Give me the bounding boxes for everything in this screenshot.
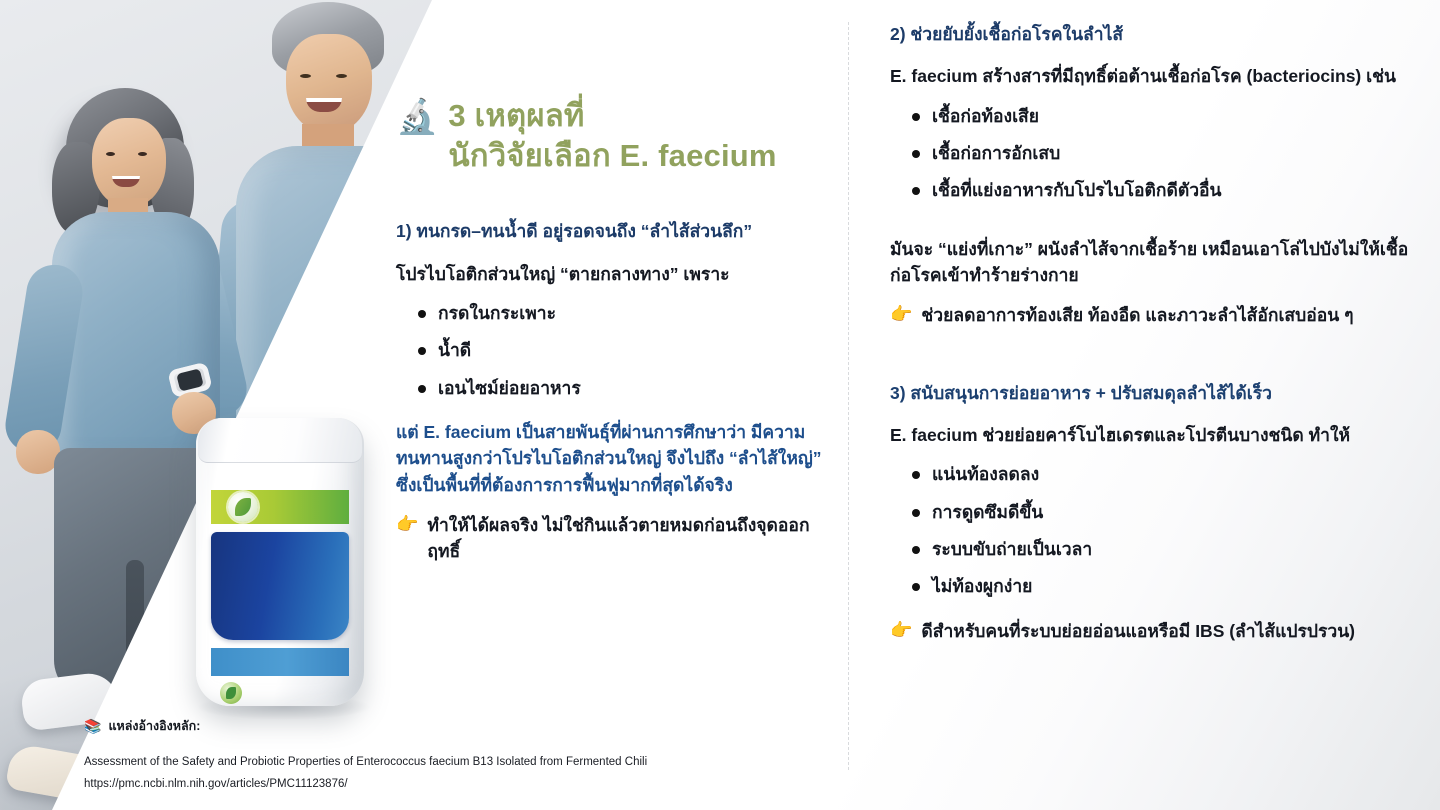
spacer [890, 343, 1410, 381]
list-item: การดูดซึมดีขึ้น [912, 500, 1410, 525]
list-item: เชื้อก่อท้องเสีย [912, 104, 1410, 129]
section-3-bullets: แน่นท้องลดลง การดูดซึมดีขึ้น ระบบขับถ่าย… [890, 462, 1410, 600]
section-1-takeaway: 👉 ทำให้ได้ผลจริง ไม่ใช่กินแล้วตายหมดก่อน… [396, 512, 836, 565]
product-jar [196, 418, 364, 706]
infographic-canvas: 🔬 3 เหตุผลที่ นักวิจัยเลือก E. faecium 1… [0, 0, 1440, 810]
left-content-column: 🔬 3 เหตุผลที่ นักวิจัยเลือก E. faecium 1… [396, 96, 836, 578]
list-item: น้ำดี [418, 338, 836, 363]
section-2-heading: 2) ช่วยยับยั้งเชื้อก่อโรคในลำไส้ [890, 22, 1410, 47]
section-1-highlight: แต่ E. faecium เป็นสายพันธุ์ที่ผ่านการศึ… [396, 419, 836, 498]
list-item: ระบบขับถ่ายเป็นเวลา [912, 537, 1410, 562]
spacer [890, 222, 1410, 236]
list-item: แน่นท้องลดลง [912, 462, 1410, 487]
pointing-hand-icon: 👉 [890, 618, 912, 642]
section-3-intro: E. faecium ช่วยย่อยคาร์โบไฮเดรตและโปรตีน… [890, 422, 1410, 448]
title-line-1: 3 เหตุผลที่ [448, 96, 776, 136]
list-item: เอนไซม์ย่อยอาหาร [418, 376, 836, 401]
list-item: ไม่ท้องผูกง่าย [912, 574, 1410, 599]
citation-reference: Assessment of the Safety and Probiotic P… [84, 752, 844, 774]
section-2-bullets: เชื้อก่อท้องเสีย เชื้อก่อการอักเสบ เชื้อ… [890, 104, 1410, 204]
citation-label: แหล่งอ้างอิงหลัก: [108, 716, 200, 736]
pointing-hand-icon: 👉 [396, 512, 418, 536]
jar-blue-label [211, 532, 349, 640]
woman-face [92, 118, 166, 208]
section-2-intro: E. faecium สร้างสารที่มีฤทธิ์ต่อต้านเชื้… [890, 63, 1410, 89]
citation-url[interactable]: https://pmc.ncbi.nlm.nih.gov/articles/PM… [84, 774, 844, 796]
woman-leg-gap [126, 560, 144, 710]
section-1-takeaway-text: ทำให้ได้ผลจริง ไม่ใช่กินแล้วตายหมดก่อนถึ… [427, 512, 836, 565]
jar-blue-strip [211, 648, 349, 676]
list-item: เชื้อก่อการอักเสบ [912, 141, 1410, 166]
microscope-icon: 🔬 [396, 100, 438, 134]
page-title: 🔬 3 เหตุผลที่ นักวิจัยเลือก E. faecium [396, 96, 836, 175]
woman-eye-right [138, 152, 147, 156]
man-face [286, 34, 372, 134]
section-1-heading: 1) ทนกรด–ทนน้ำดี อยู่รอดจนถึง “ลำไส้ส่วน… [396, 219, 836, 244]
title-line-2: นักวิจัยเลือก E. faecium [448, 136, 776, 176]
man-eye-left [300, 74, 311, 78]
man-eye-right [336, 74, 347, 78]
jar-lid [198, 418, 362, 463]
eco-badge-icon [220, 682, 242, 704]
pointing-hand-icon: 👉 [890, 302, 912, 326]
list-item: กรดในกระเพาะ [418, 301, 836, 326]
section-3-takeaway: 👉 ดีสำหรับคนที่ระบบย่อยอ่อนแอหรือมี IBS … [890, 618, 1410, 644]
list-item: เชื้อที่แย่งอาหารกับโปรไบโอติกดีตัวอื่น [912, 178, 1410, 203]
citation-block: 📚 แหล่งอ้างอิงหลัก: Assessment of the Sa… [84, 716, 844, 796]
woman-eye-left [106, 152, 115, 156]
leaf-logo-icon [228, 492, 258, 522]
title-text: 3 เหตุผลที่ นักวิจัยเลือก E. faecium [448, 96, 776, 175]
column-divider [848, 22, 849, 770]
section-1-intro: โปรไบโอติกส่วนใหญ่ “ตายกลางทาง” เพราะ [396, 261, 836, 287]
section-2-takeaway: 👉 ช่วยลดอาการท้องเสีย ท้องอืด และภาวะลำไ… [890, 302, 1410, 328]
citation-header: 📚 แหล่งอ้างอิงหลัก: [84, 716, 844, 736]
section-3-heading: 3) สนับสนุนการย่อยอาหาร + ปรับสมดุลลำไส้… [890, 381, 1410, 406]
right-content-column: 2) ช่วยยับยั้งเชื้อก่อโรคในลำไส้ E. faec… [890, 22, 1410, 658]
section-2-takeaway-text: ช่วยลดอาการท้องเสีย ท้องอืด และภาวะลำไส้… [921, 302, 1353, 328]
section-3-takeaway-text: ดีสำหรับคนที่ระบบย่อยอ่อนแอหรือมี IBS (ล… [921, 618, 1355, 644]
books-icon: 📚 [84, 719, 101, 733]
section-1-bullets: กรดในกระเพาะ น้ำดี เอนไซม์ย่อยอาหาร [396, 301, 836, 401]
section-2-body: มันจะ “แย่งที่เกาะ” ผนังลำไส้จากเชื้อร้า… [890, 236, 1410, 289]
